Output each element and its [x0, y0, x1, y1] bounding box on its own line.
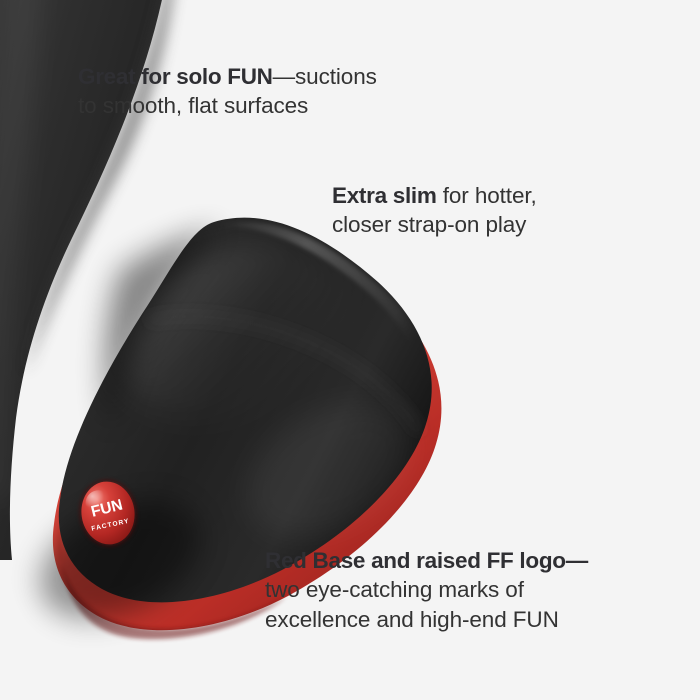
callout-suction-lead: Great for solo FUN — [78, 64, 273, 89]
callout-red-base-lead: Red Base and raised FF logo — [265, 548, 566, 573]
callout-suction: Great for solo FUN—suctions to smooth, f… — [78, 62, 377, 121]
callout-red-base-line-1: Red Base and raised FF logo— — [265, 546, 588, 575]
callout-extra-slim-lead: Extra slim — [332, 183, 437, 208]
callout-extra-slim-line-1: Extra slim for hotter, — [332, 181, 537, 210]
product-feature-callout-image: FUN FACTORY Great for solo FUN—suctions … — [0, 0, 700, 700]
callout-suction-line-2: to smooth, flat surfaces — [78, 91, 377, 120]
callout-red-base: Red Base and raised FF logo— two eye-cat… — [265, 546, 588, 634]
callout-extra-slim-line-2: closer strap-on play — [332, 210, 537, 239]
callout-extra-slim-line-1-rest: for hotter, — [437, 183, 537, 208]
callout-suction-line-1: Great for solo FUN—suctions — [78, 62, 377, 91]
callout-red-base-line-1-rest: — — [566, 548, 588, 573]
callout-suction-line-1-rest: —suctions — [273, 64, 377, 89]
callout-red-base-line-3: excellence and high-end FUN — [265, 605, 588, 634]
callout-red-base-line-2: two eye-catching marks of — [265, 575, 588, 604]
callout-extra-slim: Extra slim for hotter, closer strap-on p… — [332, 181, 537, 240]
